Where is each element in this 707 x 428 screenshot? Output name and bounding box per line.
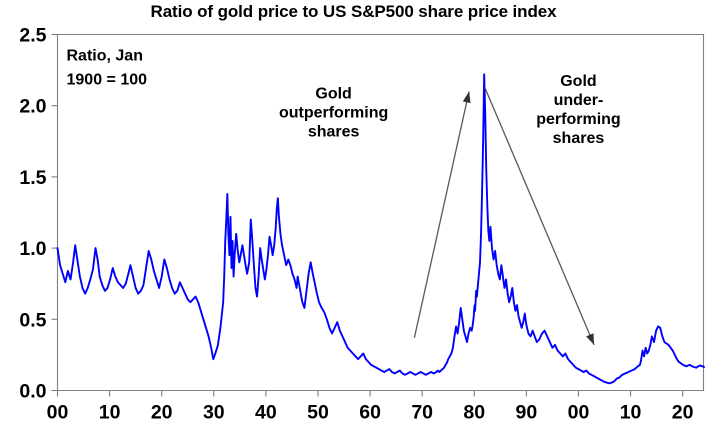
- y-tick-label: 1.5: [19, 167, 46, 189]
- arrow-head-up-arrow-to-peak: [463, 91, 471, 103]
- x-tick-label: 10: [620, 402, 642, 424]
- x-tick-label: 10: [99, 402, 121, 424]
- x-tick-label: 00: [47, 402, 69, 424]
- y-tick-label: 0.0: [19, 381, 46, 403]
- annotation-gold-outperforming-line1: Gold: [315, 86, 351, 103]
- y-tick-label: 0.5: [19, 309, 46, 331]
- x-tick-label: 20: [672, 402, 694, 424]
- annotation-gold-underperforming-line2: under-: [554, 92, 604, 109]
- annotation-gold-underperforming-line4: shares: [553, 130, 605, 147]
- x-tick-label: 70: [411, 402, 433, 424]
- annotation-gold-underperforming-line3: performing: [536, 111, 620, 128]
- annotation-gold-underperforming-line1: Gold: [560, 73, 596, 90]
- y-tick-label: 2.5: [19, 25, 46, 47]
- chart-container: Ratio of gold price to US S&P500 share p…: [0, 0, 707, 428]
- x-tick-label: 90: [516, 402, 538, 424]
- annotation-gold-outperforming-line3: shares: [308, 124, 360, 141]
- arrow-head-down-arrow-from-peak: [586, 333, 594, 345]
- annotations-group: GoldoutperformingsharesGoldunder-perform…: [279, 73, 621, 147]
- x-tick-label: 60: [359, 402, 381, 424]
- axis-frame-and-ticks: [52, 35, 704, 397]
- x-tick-label: 00: [568, 402, 590, 424]
- x-tick-label: 80: [463, 402, 485, 424]
- x-tick-label: 30: [203, 402, 225, 424]
- x-tick-label: 50: [307, 402, 329, 424]
- y-tick-label: 1.0: [19, 238, 46, 260]
- y-axis-tick-labels: 0.00.51.01.52.02.5: [19, 25, 46, 403]
- x-axis-tick-labels: 00102030405060708090001020: [47, 402, 694, 424]
- axis-note-group: Ratio, Jan1900 = 100: [67, 48, 148, 89]
- arrow-shaft-up-arrow-to-peak: [414, 91, 469, 337]
- x-tick-label: 40: [255, 402, 277, 424]
- y-tick-label: 2.0: [19, 96, 46, 118]
- chart-plot-area: 0.00.51.01.52.02.5 001020304050607080900…: [0, 0, 707, 428]
- axis-note-line2: 1900 = 100: [67, 72, 148, 89]
- axis-note-line1: Ratio, Jan: [67, 48, 143, 65]
- annotation-gold-outperforming-line2: outperforming: [279, 105, 388, 122]
- x-tick-label: 20: [151, 402, 173, 424]
